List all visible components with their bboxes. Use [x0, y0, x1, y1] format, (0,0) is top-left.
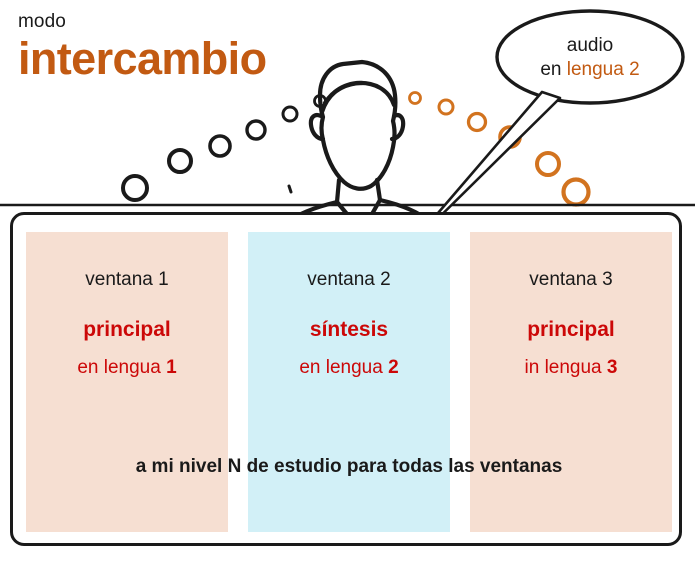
window-3-language-prefix: in lengua — [525, 357, 607, 378]
window-3-language: in lengua 3 — [470, 357, 672, 380]
window-column-1[interactable]: ventana 1 principal en lengua 1 — [26, 232, 228, 532]
speech-bubble-line-2-prefix: en — [540, 59, 566, 80]
window-2-label: ventana 2 — [248, 269, 450, 292]
speech-bubble-text: audio en lengua 2 — [497, 11, 683, 104]
heading-eyebrow: modo — [18, 12, 266, 33]
window-1-label: ventana 1 — [26, 269, 228, 292]
window-3-language-number: 3 — [607, 357, 618, 378]
speech-bubble-line-1: audio — [567, 34, 614, 58]
window-column-2[interactable]: ventana 2 síntesis en lengua 2 — [248, 232, 450, 532]
page-title-block: modo intercambio — [18, 12, 266, 82]
window-2-language-number: 2 — [388, 357, 399, 378]
window-1-language-number: 1 — [166, 357, 177, 378]
window-3-role: principal — [470, 317, 672, 342]
windows-panel: ventana 1 principal en lengua 1 ventana … — [10, 212, 682, 546]
audio-speech-bubble: audio en lengua 2 — [497, 11, 683, 104]
panel-footnote: a mi nivel N de estudio para todas las v… — [13, 456, 685, 478]
window-1-role: principal — [26, 317, 228, 342]
window-1-language: en lengua 1 — [26, 357, 228, 380]
windows-columns: ventana 1 principal en lengua 1 ventana … — [26, 232, 672, 532]
speech-bubble-line-2-highlight: lengua 2 — [567, 59, 640, 80]
window-1-language-prefix: en lengua — [77, 357, 166, 378]
window-column-3[interactable]: ventana 3 principal in lengua 3 — [470, 232, 672, 532]
page-title: intercambio — [18, 35, 266, 82]
window-3-label: ventana 3 — [470, 269, 672, 292]
window-2-language-prefix: en lengua — [299, 357, 388, 378]
orange-circle-trail — [410, 93, 589, 205]
speech-bubble-line-2: en lengua 2 — [540, 58, 639, 82]
window-2-language: en lengua 2 — [248, 357, 450, 380]
black-circle-trail — [123, 96, 326, 201]
window-2-role: síntesis — [248, 317, 450, 342]
